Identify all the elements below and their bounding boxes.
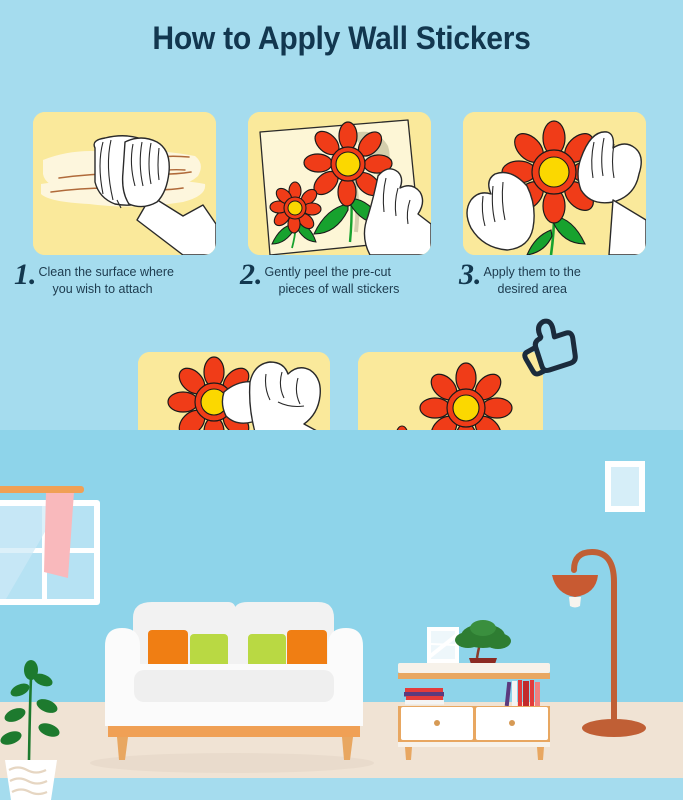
wall-picture-frame — [605, 461, 645, 512]
step-2-caption: 2. Gently peel the pre-cut pieces of wal… — [240, 262, 458, 297]
window-with-pink-curtain — [0, 486, 100, 605]
picture-frame-on-sideboard — [427, 627, 459, 663]
step-2-text: Gently peel the pre-cut pieces of wall s… — [265, 262, 400, 297]
step-1-text: Clean the surface where you wish to atta… — [39, 262, 175, 297]
step-1-illustration — [33, 112, 216, 255]
step-3-number: 3. — [459, 260, 482, 290]
step-3-line1: Apply them to the — [484, 265, 581, 279]
books-stacked — [404, 688, 444, 705]
step-2-illustration — [248, 112, 431, 255]
step-2-number: 2. — [240, 260, 263, 290]
step-3-caption: 3. Apply them to the desired area — [459, 262, 671, 297]
step-3-text: Apply them to the desired area — [484, 262, 581, 297]
step-3-illustration — [463, 112, 646, 255]
step-1-number: 1. — [14, 260, 37, 290]
step-2-line1: Gently peel the pre-cut — [265, 265, 391, 279]
thumbs-up-icon — [518, 315, 580, 377]
room-scene — [0, 430, 683, 800]
step-1-caption: 1. Clean the surface where you wish to a… — [14, 262, 229, 297]
step-1-line2: you wish to attach — [39, 281, 175, 298]
page-title: How to Apply Wall Stickers — [20, 20, 662, 57]
step-3-line2: desired area — [484, 281, 581, 298]
step-1-line1: Clean the surface where — [39, 265, 175, 279]
step-2-line2: pieces of wall stickers — [265, 281, 400, 298]
